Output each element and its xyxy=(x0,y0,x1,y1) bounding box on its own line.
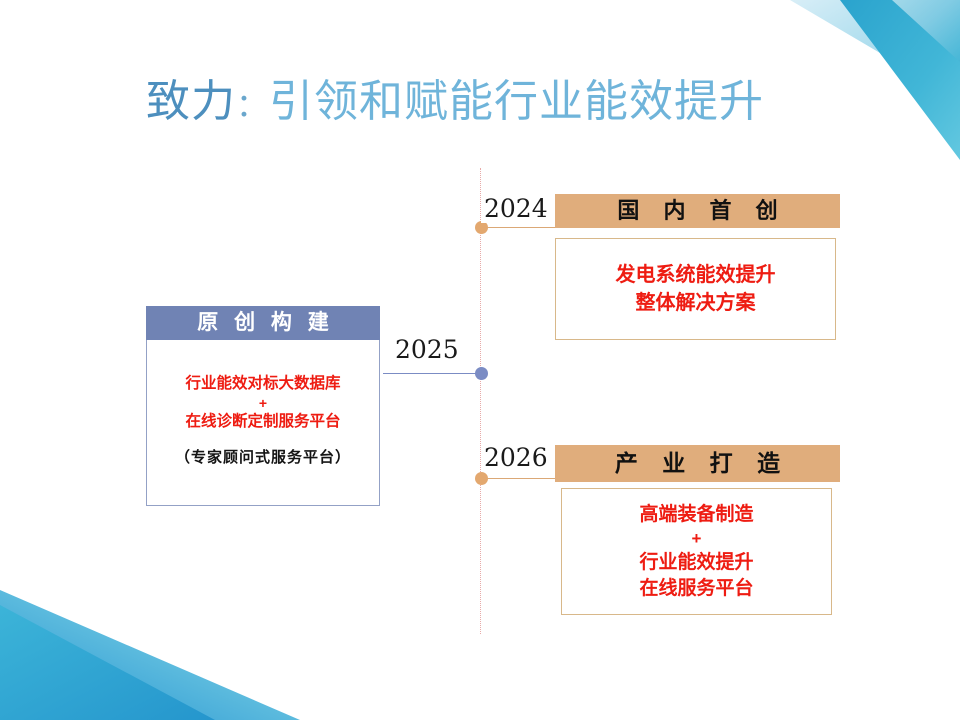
timeline-dot-2026 xyxy=(475,472,488,485)
card-left-line-4: （专家顾问式服务平台） xyxy=(175,447,351,469)
card-bottom-line-1: 高端装备制造 xyxy=(639,502,753,528)
timeline-axis xyxy=(480,168,481,634)
timeline-dot-2025 xyxy=(475,367,488,380)
card-left-line-1: 行业能效对标大数据库 xyxy=(185,373,340,395)
slide-canvas: 致力：引领和赋能行业能效提升 2024 2025 2026 原 创 构 建 行业… xyxy=(0,0,960,720)
card-left-body: 行业能效对标大数据库 + 在线诊断定制服务平台 （专家顾问式服务平台） xyxy=(146,340,380,506)
card-left-line-3: 在线诊断定制服务平台 xyxy=(185,411,340,433)
card-left-header: 原 创 构 建 xyxy=(146,306,380,340)
card-original-construction: 原 创 构 建 行业能效对标大数据库 + 在线诊断定制服务平台 （专家顾问式服务… xyxy=(146,306,380,506)
card-top-body: 发电系统能效提升 整体解决方案 xyxy=(555,238,836,340)
timeline-year-2026: 2026 xyxy=(481,443,551,472)
card-top-line-2: 整体解决方案 xyxy=(636,289,756,317)
card-domestic-first: 国 内 首 创 发电系统能效提升 整体解决方案 xyxy=(555,194,840,340)
title-rest: 引领和赋能行业能效提升 xyxy=(269,76,764,127)
card-bottom-line-3: 行业能效提升 xyxy=(639,550,753,576)
card-top-line-1: 发电系统能效提升 xyxy=(616,261,776,289)
card-bottom-body: 高端装备制造 + 行业能效提升 在线服务平台 xyxy=(561,488,832,615)
card-bottom-line-2: + xyxy=(692,528,702,550)
timeline-connector-2024 xyxy=(481,227,559,228)
card-industry-building: 产 业 打 造 高端装备制造 + 行业能效提升 在线服务平台 xyxy=(555,445,840,615)
timeline-year-2024: 2024 xyxy=(481,194,551,223)
card-top-header: 国 内 首 创 xyxy=(555,194,840,228)
timeline-connector-2026 xyxy=(481,478,563,479)
timeline-year-2025: 2025 xyxy=(392,335,462,364)
timeline-connector-2025 xyxy=(383,373,483,374)
bottom-left-ribbon-icon xyxy=(0,520,330,720)
card-left-line-2: + xyxy=(259,395,267,411)
title-lead: 致力 xyxy=(146,76,236,127)
title-colon: ： xyxy=(236,86,269,124)
card-bottom-header: 产 业 打 造 xyxy=(555,445,840,482)
page-title: 致力：引领和赋能行业能效提升 xyxy=(146,72,846,134)
card-bottom-line-4: 在线服务平台 xyxy=(639,576,753,602)
